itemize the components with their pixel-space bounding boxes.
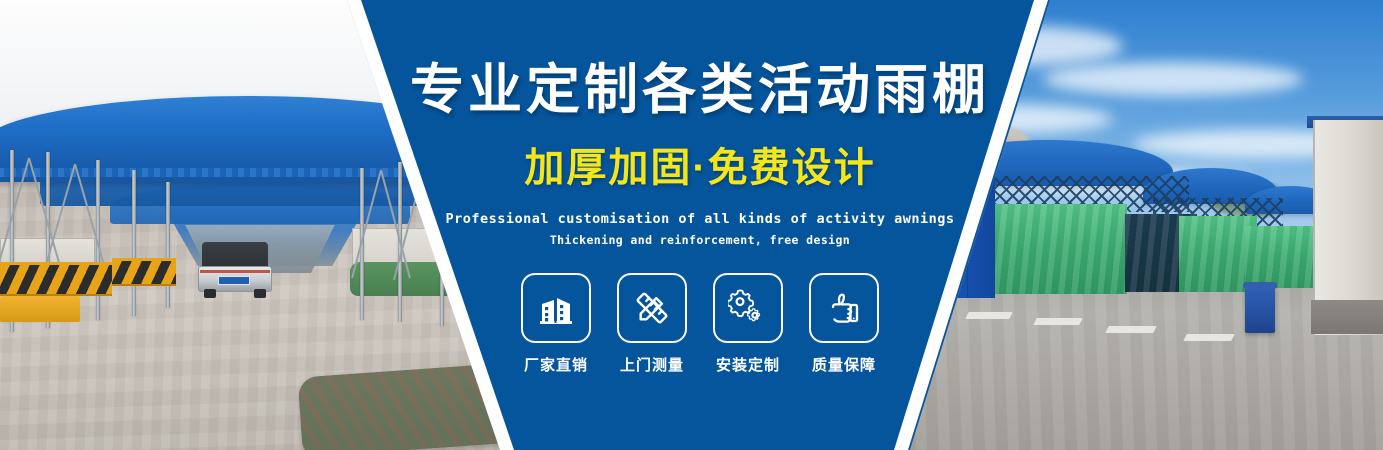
feature-icon-box[interactable] bbox=[617, 273, 687, 343]
feature-icon-box[interactable] bbox=[521, 273, 591, 343]
gears-icon bbox=[728, 288, 768, 328]
feature-label: 安装定制 bbox=[716, 354, 780, 375]
right-photo-waste-bin bbox=[1245, 287, 1275, 333]
right-photo-road-marking bbox=[1183, 334, 1234, 341]
english-tagline-secondary: Thickening and reinforcement, free desig… bbox=[550, 233, 850, 247]
left-photo-fence bbox=[0, 296, 80, 322]
left-photo-truck-stripe bbox=[200, 270, 270, 273]
right-photo-green-tarp bbox=[1245, 226, 1317, 288]
right-photo-house-base bbox=[1311, 300, 1383, 334]
subheadline: 加厚加固·免费设计 bbox=[524, 135, 875, 193]
left-photo-truck-wheel bbox=[254, 289, 266, 298]
feature-label: 厂家直销 bbox=[524, 354, 588, 375]
feature-item-install-custom[interactable]: 安装定制 bbox=[711, 273, 785, 375]
right-photo-cloud bbox=[1043, 62, 1303, 96]
ruler-pencil-icon bbox=[632, 288, 672, 328]
feature-item-onsite-measure[interactable]: 上门测量 bbox=[615, 273, 689, 375]
banner-content: 专业定制各类活动雨棚 加厚加固·免费设计 Professional custom… bbox=[355, 0, 1045, 450]
headline: 专业定制各类活动雨棚 bbox=[410, 62, 990, 119]
left-photo-pole bbox=[166, 182, 170, 308]
feature-label: 上门测量 bbox=[620, 354, 684, 375]
english-tagline-primary: Professional customisation of all kinds … bbox=[445, 211, 954, 227]
thumbs-up-icon bbox=[824, 288, 864, 328]
feature-icon-box[interactable] bbox=[713, 273, 783, 343]
feature-icon-box[interactable] bbox=[809, 273, 879, 343]
feature-item-factory-direct[interactable]: 厂家直销 bbox=[519, 273, 593, 375]
left-photo-safety-barrier bbox=[0, 262, 112, 296]
building-icon bbox=[536, 288, 576, 328]
right-photo-road-marking bbox=[1105, 326, 1156, 333]
left-photo-safety-barrier bbox=[112, 258, 176, 286]
feature-item-quality-guarantee[interactable]: 质量保障 bbox=[807, 273, 881, 375]
promo-banner: 专业定制各类活动雨棚 加厚加固·免费设计 Professional custom… bbox=[0, 0, 1383, 450]
right-photo-waste-bin-lid bbox=[1243, 282, 1277, 289]
left-photo-truck-plate bbox=[218, 276, 250, 285]
left-photo-pole bbox=[132, 170, 136, 316]
feature-label: 质量保障 bbox=[812, 354, 876, 375]
left-photo-truck bbox=[196, 232, 274, 298]
feature-list: 厂家直销 bbox=[519, 273, 881, 375]
left-photo-truck-wheel bbox=[204, 289, 216, 298]
